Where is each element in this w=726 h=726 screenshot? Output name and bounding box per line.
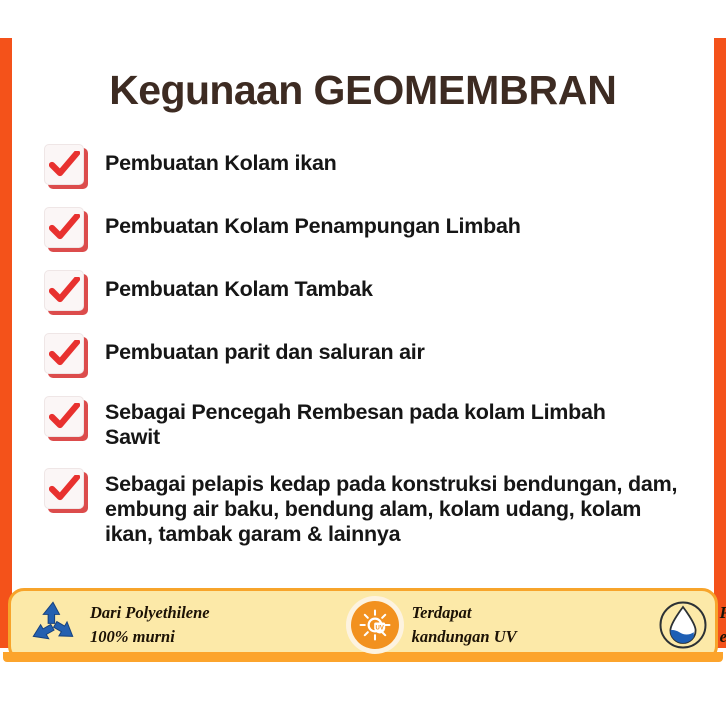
checkbox-checked-icon [44, 468, 88, 513]
feature-effective-line2: efektif [720, 625, 726, 649]
list-item: Pembuatan Kolam ikan [44, 143, 704, 189]
list-item-label: Pembuatan Kolam Penampungan Limbah [105, 206, 521, 239]
feature-recycle-line1: Dari Polyethilene [90, 601, 210, 625]
feature-recycle-text: Dari Polyethilene 100% murni [90, 601, 210, 649]
feature-uv-line2: kandungan UV [412, 625, 517, 649]
list-item-label: Sebagai pelapis kedap pada konstruksi be… [105, 467, 680, 547]
feature-effective-text: Pemanfaatan lebih efektif [720, 601, 726, 649]
recycle-icon [25, 597, 81, 653]
feature-effective: Pemanfaatan lebih efektif [655, 597, 726, 653]
feature-uv: UV Terdapat kandungan UV [347, 597, 517, 653]
page-title: Kegunaan GEOMEMBRAN [12, 67, 714, 114]
feature-effective-line1: Pemanfaatan lebih [720, 601, 726, 625]
checkbox-checked-icon [44, 333, 88, 378]
list-item-label: Pembuatan parit dan saluran air [105, 332, 425, 365]
list-item: Pembuatan Kolam Tambak [44, 269, 704, 315]
feature-uv-text: Terdapat kandungan UV [412, 601, 517, 649]
left-orange-rail [0, 38, 12, 648]
uv-sun-icon: UV [347, 597, 403, 653]
list-item-label: Pembuatan Kolam ikan [105, 143, 337, 176]
checkbox-checked-icon [44, 270, 88, 315]
list-item: Pembuatan parit dan saluran air [44, 332, 704, 378]
content-card: Kegunaan GEOMEMBRAN Pembuatan Kolam ikan… [12, 38, 714, 588]
checkbox-checked-icon [44, 207, 88, 252]
page-title-word-kegunaan: Kegunaan [109, 67, 313, 113]
right-orange-rail [714, 38, 726, 648]
feature-recycle-line2: 100% murni [90, 625, 210, 649]
water-drop-icon [655, 597, 711, 653]
feature-banner: Dari Polyethilene 100% murni [8, 588, 718, 662]
list-item-label: Sebagai Pencegah Rembesan pada kolam Lim… [105, 395, 625, 450]
list-item: Sebagai Pencegah Rembesan pada kolam Lim… [44, 395, 704, 450]
benefits-list: Pembuatan Kolam ikan Pembuatan Kolam Pen… [44, 143, 704, 547]
list-item: Pembuatan Kolam Penampungan Limbah [44, 206, 704, 252]
page-title-word-geomembran: GEOMEMBRAN [313, 67, 616, 113]
list-item-label: Pembuatan Kolam Tambak [105, 269, 373, 302]
checkbox-checked-icon [44, 144, 88, 189]
poster-root: Kegunaan GEOMEMBRAN Pembuatan Kolam ikan… [0, 0, 726, 726]
feature-uv-line1: Terdapat [412, 601, 517, 625]
feature-recycle: Dari Polyethilene 100% murni [25, 597, 210, 653]
checkbox-checked-icon [44, 396, 88, 441]
list-item: Sebagai pelapis kedap pada konstruksi be… [44, 467, 704, 547]
svg-text:UV: UV [375, 626, 383, 632]
